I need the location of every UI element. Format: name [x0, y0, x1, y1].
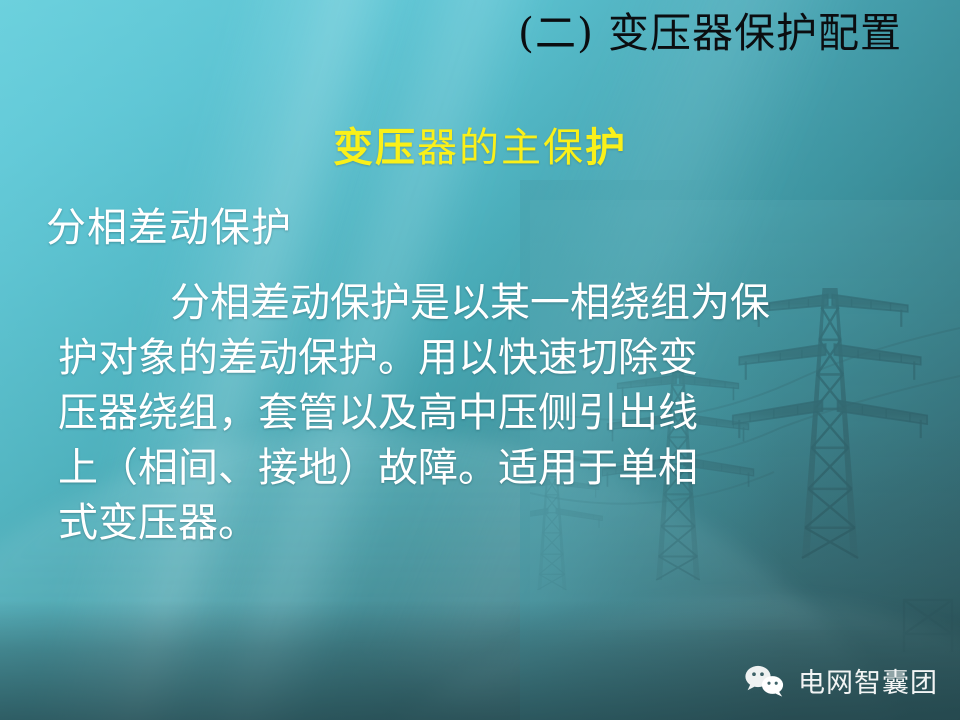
wechat-icon [743, 664, 787, 698]
body-line: 压器绕组，套管以及高中压侧引出线 [58, 386, 920, 441]
body-line: 分相差动保护是以某一相绕组为保 [58, 276, 920, 331]
section-heading-bold-2: 护 [585, 125, 627, 171]
body-line: 护对象的差动保护。用以快速切除变 [58, 331, 920, 386]
watermark-label: 电网智囊团 [798, 661, 938, 700]
body-line: 上（相间、接地）故障。适用于单相 [58, 441, 920, 496]
watermark: 电网智囊团 [743, 661, 938, 700]
section-heading-bold-1: 变压 [333, 125, 417, 171]
subsection-heading: 分相差动保护 [46, 204, 292, 252]
slide-canvas: (二) 变压器保护配置 变压器的主保护 分相差动保护 分相差动保护是以某一相绕组… [0, 0, 960, 720]
page-title: (二) 变压器保护配置 [500, 10, 920, 57]
section-heading-light: 器的主保 [417, 125, 585, 171]
body-paragraph: 分相差动保护是以某一相绕组为保 护对象的差动保护。用以快速切除变 压器绕组，套管… [58, 276, 920, 551]
section-heading: 变压器的主保护 [0, 124, 960, 172]
body-line: 式变压器。 [58, 496, 920, 551]
